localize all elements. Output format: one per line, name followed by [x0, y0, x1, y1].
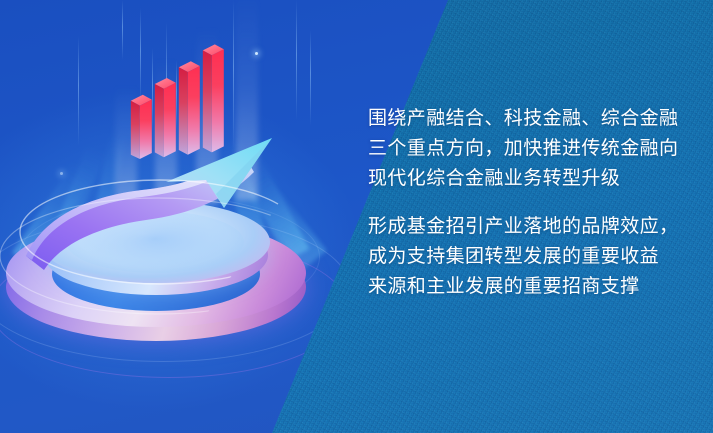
- paragraph-2-line-1: 形成基金招引产业落地的品牌效应，: [368, 212, 686, 242]
- paragraph-1-line-2: 三个重点方向，加快推进传统金融向: [368, 134, 686, 164]
- text-column: 围绕产融结合、科技金融、综合金融 三个重点方向，加快推进传统金融向 现代化综合金…: [368, 104, 686, 302]
- paragraph-1-line-3: 现代化综合金融业务转型升级: [368, 164, 686, 194]
- paragraph-2: 形成基金招引产业落地的品牌效应， 成为支持集团转型发展的重要收益 来源和主业发展…: [368, 212, 686, 302]
- promo-banner: 围绕产融结合、科技金融、综合金融 三个重点方向，加快推进传统金融向 现代化综合金…: [0, 0, 713, 433]
- paragraph-1: 围绕产融结合、科技金融、综合金融 三个重点方向，加快推进传统金融向 现代化综合金…: [368, 104, 686, 194]
- upward-growth-arrow: [20, 130, 310, 280]
- paragraph-1-line-1: 围绕产融结合、科技金融、综合金融: [368, 104, 686, 134]
- paragraph-2-line-3: 来源和主业发展的重要招商支撑: [368, 272, 686, 302]
- paragraph-2-line-2: 成为支持集团转型发展的重要收益: [368, 242, 686, 272]
